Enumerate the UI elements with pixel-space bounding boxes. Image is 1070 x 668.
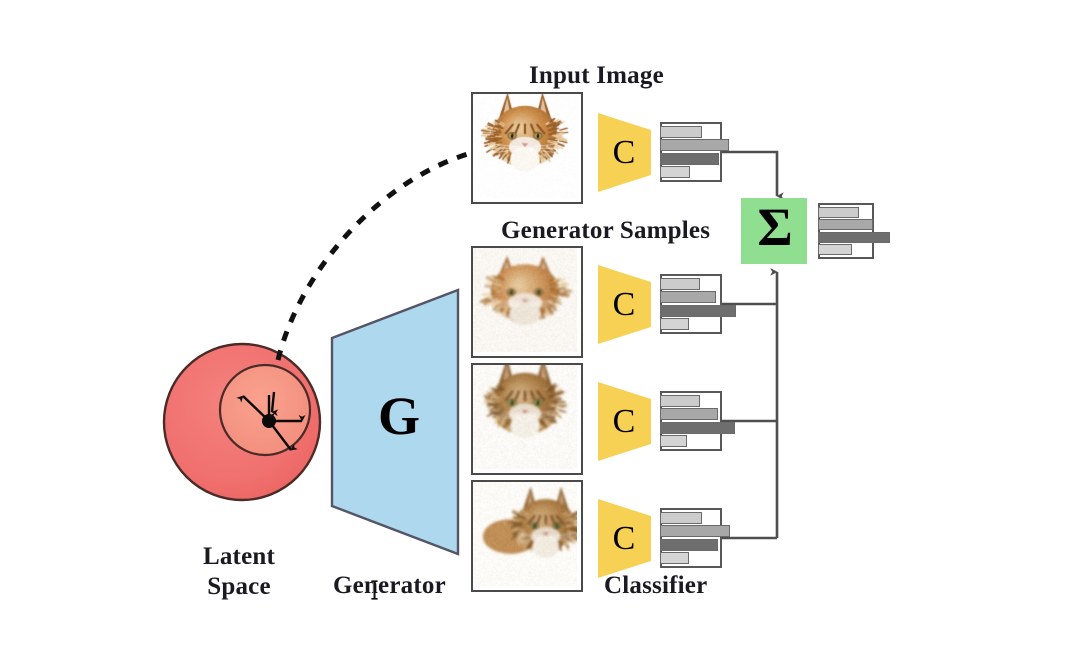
generated-cat-2: [471, 363, 583, 475]
classifier-label: Classifier: [604, 572, 707, 600]
hist-bar: [660, 291, 716, 303]
hist-sum: [818, 203, 874, 259]
hist-bar: [660, 126, 702, 138]
sum-node-square: [741, 198, 807, 264]
hist-sample-3: [660, 508, 722, 568]
hist-sample-1: [660, 274, 722, 334]
hist-bar: [660, 408, 718, 420]
hist-input: [660, 122, 722, 182]
hist-bar: [818, 232, 890, 243]
hist-bar: [660, 552, 689, 564]
classifier-input-trapezoid: [598, 113, 651, 192]
hist-sample-2: [660, 391, 722, 451]
input-image-label: Input Image: [529, 62, 664, 90]
hist-bar: [818, 219, 873, 230]
hist-bar: [660, 525, 730, 537]
generator-label: Generator: [333, 572, 446, 600]
generated-cat-3: [471, 480, 583, 592]
generated-cat-1: [471, 246, 583, 358]
hist-bar: [660, 139, 729, 151]
hist-bar: [660, 512, 702, 524]
diagram-canvas: C C C C G Σ Input Image Generator Sample…: [0, 0, 1070, 668]
hist-bar: [660, 435, 687, 447]
hist-bar: [660, 395, 700, 407]
latent-space-label-line-2: Space: [193, 572, 285, 602]
hist-bar: [660, 305, 736, 317]
classifier-sample-2-trapezoid: [598, 382, 651, 461]
generator-samples-label: Generator Samples: [501, 217, 710, 245]
hist-bar: [818, 207, 859, 218]
connector-input-to-sum: [722, 152, 777, 196]
hist-bar: [660, 278, 700, 290]
input-image-cat: [471, 92, 583, 204]
latent-space-label: Latent Space: [193, 542, 285, 601]
hist-bar: [660, 539, 718, 551]
hist-bar: [660, 166, 690, 178]
latent-space-inner-circle: [220, 365, 310, 455]
hist-bar: [660, 422, 735, 434]
hist-bar: [660, 153, 719, 165]
generator-trapezoid: [332, 290, 458, 554]
classifier-sample-1-trapezoid: [598, 265, 651, 344]
hist-bar: [660, 318, 689, 330]
classifier-sample-3-trapezoid: [598, 499, 651, 578]
hist-bar: [818, 244, 852, 255]
latent-space-label-line-1: Latent: [193, 542, 285, 572]
